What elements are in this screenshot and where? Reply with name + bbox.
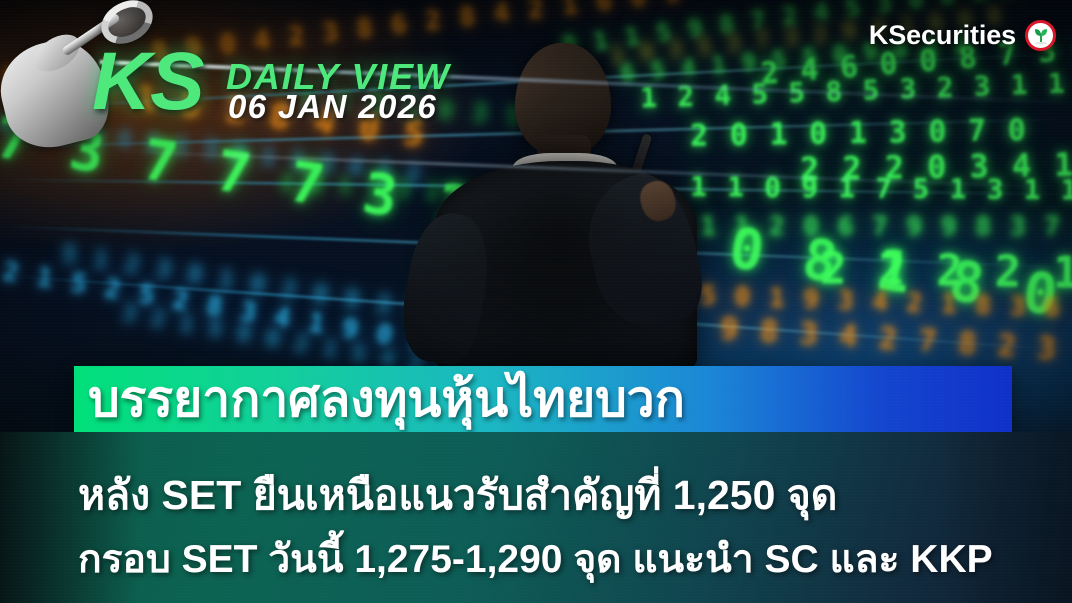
subtitle-line-2: กรอบ SET วันนี้ 1,275-1,290 จุด แนะนำ SC… <box>78 528 993 590</box>
daily-view-poster: 8 9 0 4 2 3 8 6 2 8 4 2 1 6 0 90 1 1 5 9… <box>0 0 1072 603</box>
brand-name: KSecurities <box>869 20 1016 51</box>
issue-date: 06 JAN 2026 <box>228 88 437 126</box>
ticker-row: 1 1 0 9 1 7 5 1 3 1 1 1 5 <box>690 170 1072 207</box>
ticker-row: 1 1 2 0 6 7 9 9 8 3 7 2 7 <box>700 212 1072 242</box>
masthead: KS <box>92 44 203 119</box>
brand-lockup: KSecurities <box>869 20 1056 51</box>
ks-logo: KS <box>92 44 203 119</box>
subtitle-line-1: หลัง SET ยืนเหนือแนวรับสำคัญที่ 1,250 จุ… <box>78 463 837 528</box>
headline-banner: บรรยากาศลงทุนหุ้นไทยบวก <box>74 366 1012 432</box>
kasikorn-seedling-icon <box>1025 20 1056 51</box>
headline-text: บรรยากาศลงทุนหุ้นไทยบวก <box>88 374 685 424</box>
